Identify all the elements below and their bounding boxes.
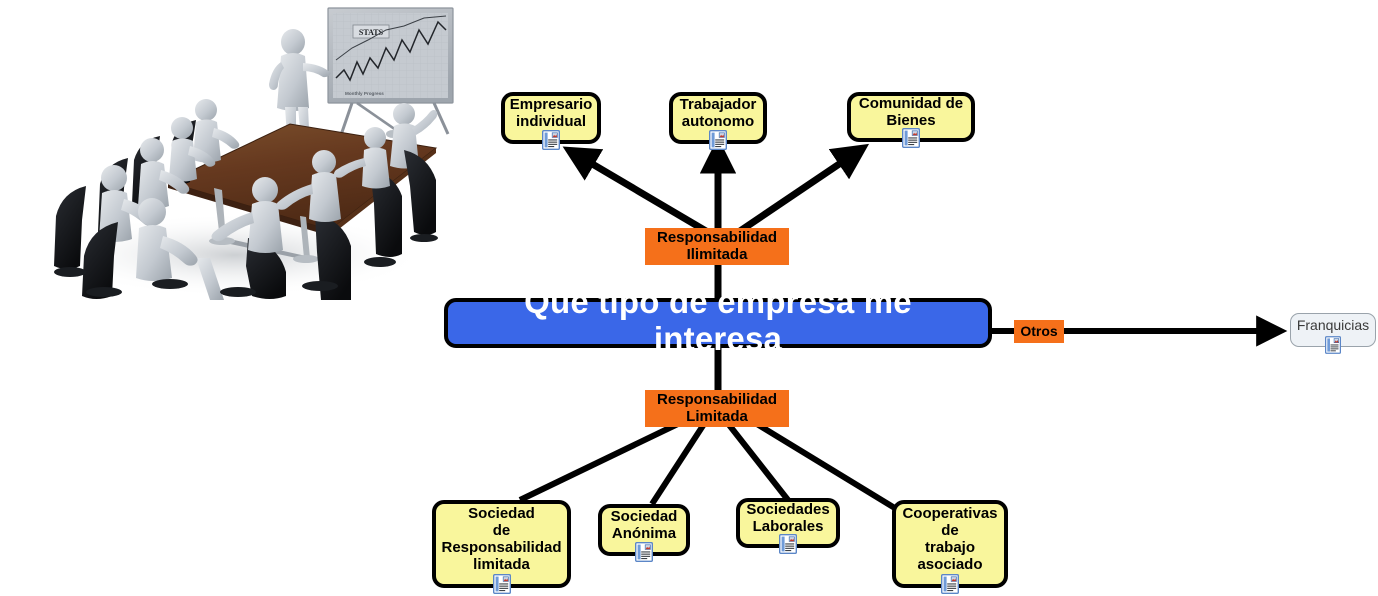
node-label: Responsabilidad Limitada: [657, 392, 777, 426]
node-comunidad-de-bienes[interactable]: Comunidad de Bienes: [847, 92, 975, 142]
node-label: Sociedad Anónima: [611, 509, 678, 543]
node-label: Trabajador autonomo: [680, 97, 757, 131]
document-attachment-icon[interactable]: [1325, 336, 1341, 354]
central-node-tipo-de-empresa[interactable]: Qué tipo de empresa me interesa: [444, 298, 992, 348]
document-attachment-icon[interactable]: [493, 574, 511, 594]
node-empresario-individual[interactable]: Empresario individual: [501, 92, 601, 144]
document-attachment-icon[interactable]: [902, 128, 920, 148]
node-responsabilidad-limitada[interactable]: Responsabilidad Limitada: [645, 390, 789, 427]
document-attachment-icon[interactable]: [779, 534, 797, 554]
document-attachment-icon[interactable]: [709, 130, 727, 150]
diagram-canvas: STATS Monthly Progress: [0, 0, 1378, 596]
node-label: Responsabilidad Ilimitada: [657, 230, 777, 264]
node-responsabilidad-ilimitada[interactable]: Responsabilidad Ilimitada: [645, 228, 789, 265]
node-label: Sociedad de Responsabilidad limitada: [441, 506, 561, 573]
node-otros[interactable]: Otros: [1014, 320, 1064, 343]
node-label: Franquicias: [1297, 318, 1369, 334]
boardroom-meeting-illustration: STATS Monthly Progress: [0, 0, 470, 300]
node-label: Empresario individual: [510, 97, 593, 131]
node-sociedad-de-responsabilidad-limitada[interactable]: Sociedad de Responsabilidad limitada: [432, 500, 571, 588]
node-sociedad-anonima[interactable]: Sociedad Anónima: [598, 504, 690, 556]
document-attachment-icon[interactable]: [941, 574, 959, 594]
node-sociedades-laborales[interactable]: Sociedades Laborales: [736, 498, 840, 548]
svg-text:Monthly Progress: Monthly Progress: [345, 91, 384, 96]
node-cooperativas-de-trabajo-asociado[interactable]: Cooperativas de trabajo asociado: [892, 500, 1008, 588]
document-attachment-icon[interactable]: [542, 130, 560, 150]
document-attachment-icon[interactable]: [635, 542, 653, 562]
node-label: Sociedades Laborales: [746, 502, 829, 536]
central-node-label: Qué tipo de empresa me interesa: [462, 284, 974, 358]
node-franquicias[interactable]: Franquicias: [1290, 313, 1376, 347]
node-label: Otros: [1020, 324, 1057, 340]
node-label: Comunidad de Bienes: [859, 96, 963, 130]
node-trabajador-autonomo[interactable]: Trabajador autonomo: [669, 92, 767, 144]
svg-text:STATS: STATS: [359, 28, 384, 37]
node-label: Cooperativas de trabajo asociado: [902, 506, 997, 573]
